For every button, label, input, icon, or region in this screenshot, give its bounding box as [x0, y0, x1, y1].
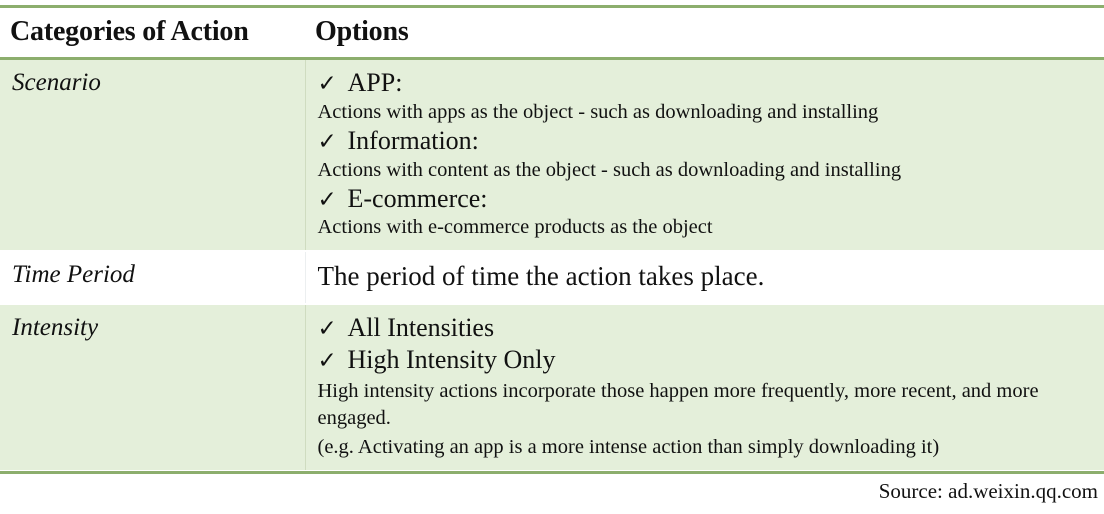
option-label-all-intensities: All Intensities: [348, 313, 495, 342]
check-icon: ✓: [318, 128, 348, 156]
option-note-intensity-definition: High intensity actions incorporate those…: [318, 378, 1095, 430]
row-category-label-time-period: Time Period: [0, 252, 305, 299]
row-options-cell-time-period: The period of time the action takes plac…: [305, 251, 1104, 302]
option-label-high-intensity-only: High Intensity Only: [348, 345, 556, 374]
option-label-app: APP:: [348, 68, 403, 97]
options-list-scenario: ✓APP: Actions with apps as the object - …: [306, 60, 1104, 250]
option-description-app: Actions with apps as the object - such a…: [318, 99, 1095, 125]
table-bottom-rule: [0, 471, 1104, 474]
check-icon: ✓: [318, 347, 348, 375]
table-header: Categories of Action Options: [0, 7, 1104, 59]
check-icon: ✓: [318, 186, 348, 214]
options-list-intensity: ✓All Intensities ✓High Intensity Only Hi…: [306, 305, 1104, 470]
check-icon: ✓: [318, 70, 348, 98]
row-category-cell-time-period: Time Period: [0, 251, 305, 302]
options-list-time-period: The period of time the action takes plac…: [306, 252, 1104, 302]
header-label-categories: Categories of Action: [0, 8, 305, 57]
figure-table-categories-of-action: Categories of Action Options Scenario ✓: [0, 0, 1104, 514]
header-label-options: Options: [305, 8, 1104, 57]
option-description-information: Actions with content as the object - suc…: [318, 157, 1095, 183]
option-label-information: Information:: [348, 126, 479, 155]
option-item-app: ✓APP:: [318, 67, 1095, 99]
option-text-time-period: The period of time the action takes plac…: [318, 259, 1095, 292]
option-description-ecommerce: Actions with e-commerce products as the …: [318, 214, 1095, 240]
header-cell-categories: Categories of Action: [0, 7, 305, 59]
row-category-label-scenario: Scenario: [0, 60, 305, 107]
row-category-cell-scenario: Scenario: [0, 59, 305, 251]
row-category-cell-intensity: Intensity: [0, 304, 305, 470]
header-cell-options: Options: [305, 7, 1104, 59]
table-body: Scenario ✓APP: Actions with apps as the …: [0, 59, 1104, 470]
table-row-scenario: Scenario ✓APP: Actions with apps as the …: [0, 59, 1104, 251]
table-row-intensity: Intensity ✓All Intensities ✓High Intensi…: [0, 304, 1104, 470]
option-label-ecommerce: E-commerce:: [348, 184, 488, 213]
option-item-information: ✓Information:: [318, 125, 1095, 157]
table-container: Categories of Action Options Scenario ✓: [0, 5, 1104, 470]
categories-of-action-table: Categories of Action Options Scenario ✓: [0, 5, 1104, 470]
option-note-intensity-example: (e.g. Activating an app is a more intens…: [318, 434, 1095, 460]
row-options-cell-scenario: ✓APP: Actions with apps as the object - …: [305, 59, 1104, 251]
option-item-ecommerce: ✓E-commerce:: [318, 183, 1095, 215]
row-options-cell-intensity: ✓All Intensities ✓High Intensity Only Hi…: [305, 304, 1104, 470]
row-category-label-intensity: Intensity: [0, 305, 305, 352]
option-item-all-intensities: ✓All Intensities: [318, 312, 1095, 344]
table-row-time-period: Time Period The period of time the actio…: [0, 251, 1104, 302]
check-icon: ✓: [318, 315, 348, 343]
option-item-high-intensity-only: ✓High Intensity Only: [318, 344, 1095, 376]
source-caption: Source: ad.weixin.qq.com: [879, 479, 1098, 504]
table-header-row: Categories of Action Options: [0, 7, 1104, 59]
